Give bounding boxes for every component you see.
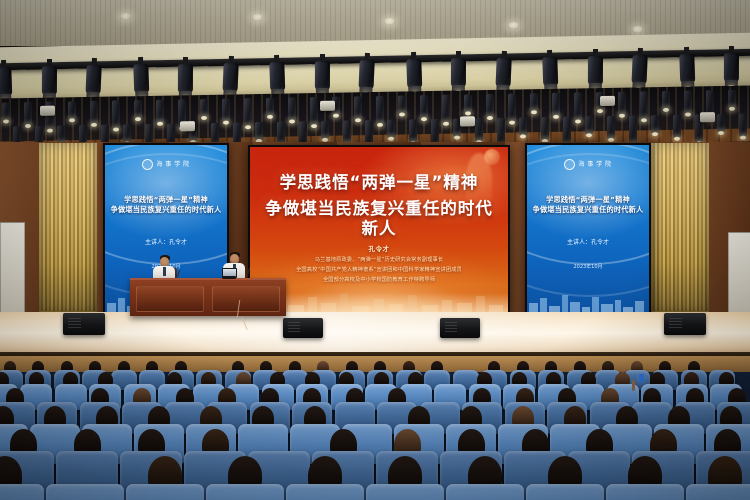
raised-phone-screen	[639, 374, 644, 382]
rig-spotlight	[266, 98, 274, 116]
rig-spotlight	[519, 117, 527, 135]
rig-light-panel	[320, 101, 335, 111]
ceiling-downlight	[508, 22, 519, 29]
rig-spotlight	[244, 98, 252, 126]
rig-spotlight	[541, 117, 549, 140]
rig-spotlight	[57, 125, 65, 143]
speakers-table	[130, 278, 286, 316]
center-credential-1: 马兰基地原政委、“两弹一星”历史研究会常务副理事长	[260, 257, 498, 265]
stage-monitor-speaker	[283, 318, 323, 338]
rig-spotlight	[640, 91, 648, 119]
stage-monitor-speaker	[440, 318, 480, 338]
rig-spotlight	[321, 121, 329, 139]
university-emblem-icon	[564, 159, 575, 170]
stage-curtain-right	[651, 143, 709, 315]
stage-floor	[0, 312, 750, 356]
rig-spotlight	[607, 116, 615, 139]
rig-spotlight	[684, 90, 692, 113]
center-title-line1: 学思践悟“两弹一星”精神	[258, 173, 500, 193]
rig-spotlight	[112, 100, 120, 128]
university-logo-text: 海 事 学 院	[578, 162, 611, 168]
rig-spotlight	[728, 90, 736, 108]
rig-spotlight	[442, 95, 450, 123]
center-credential-2: 全国高校“中国共产党人精神谱系”宣讲团和中国科学家精神宣讲团成员	[260, 267, 498, 275]
rig-light-panel	[180, 121, 195, 131]
podium-front-panel	[212, 286, 280, 312]
raised-arm	[632, 380, 635, 391]
rig-spotlight	[629, 115, 637, 143]
rig-spotlight	[464, 94, 472, 112]
stage-monitor-speaker	[664, 313, 706, 335]
center-title-line2: 争做堪当民族复兴重任的时代新人	[258, 199, 500, 239]
center-led-screen: 学思践悟“两弹一星”精神 争做堪当民族复兴重任的时代新人 孔令才 马兰基地原政委…	[248, 145, 510, 321]
rig-spotlight	[552, 93, 560, 116]
podium-front-panel	[136, 286, 204, 312]
rig-spotlight	[68, 101, 76, 119]
ceiling-downlight	[120, 13, 131, 20]
rig-spotlight	[255, 122, 263, 140]
auditorium-seat	[446, 484, 524, 500]
rig-spotlight	[2, 102, 10, 120]
auditorium-photo: 海 事 学 院 学思践悟“两弹一星”精神 争做堪当民族复兴重任的时代新人 主讲人…	[0, 0, 750, 500]
audience-area	[0, 356, 750, 500]
rig-spotlight	[288, 97, 296, 120]
stage-monitor-speaker	[63, 313, 105, 335]
rig-light-panel	[700, 112, 715, 122]
rig-spotlight	[354, 96, 362, 119]
rig-spotlight	[387, 120, 395, 138]
rig-spotlight	[376, 96, 384, 124]
side-screen-title-line1: 学思践悟“两弹一星”精神	[531, 195, 645, 205]
wall-panel-right-white	[728, 232, 750, 316]
university-logo-text: 海 事 学 院	[156, 162, 189, 168]
auditorium-seat	[686, 484, 750, 500]
rig-spotlight	[420, 95, 428, 118]
rig-spotlight	[409, 119, 417, 142]
rig-spotlight	[662, 91, 670, 109]
auditorium-seat	[526, 484, 604, 500]
rig-spotlight	[222, 99, 230, 122]
university-logo-right: 海 事 学 院	[527, 159, 649, 170]
rig-spotlight	[24, 102, 32, 125]
side-screen-speaker-label: 主讲人：孔令才	[105, 237, 227, 246]
ceiling-downlight	[252, 14, 263, 21]
rig-spotlight	[398, 95, 406, 113]
center-credential-3: 全国部分高校及中小学校国防教育工作特聘导师	[260, 277, 498, 285]
rig-spotlight	[739, 114, 747, 137]
rig-spotlight	[123, 124, 131, 142]
university-logo-left: 海 事 学 院	[105, 159, 227, 170]
rig-light-panel	[40, 106, 55, 116]
university-emblem-icon	[142, 159, 153, 170]
ceiling-downlight	[384, 18, 395, 25]
auditorium-seat	[46, 484, 124, 500]
side-screen-title-line1: 学思践悟“两弹一星”精神	[109, 195, 223, 205]
ceiling-downlight	[632, 26, 643, 33]
auditorium-seat	[206, 484, 284, 500]
rig-spotlight	[200, 99, 208, 117]
rig-spotlight	[343, 120, 351, 143]
rig-spotlight	[475, 118, 483, 141]
rig-spotlight	[530, 93, 538, 111]
side-screen-title-line2: 争做堪当民族复兴重任的时代新人	[531, 205, 645, 215]
auditorium-seat	[606, 484, 684, 500]
rig-spotlight	[651, 115, 659, 133]
rig-spotlight	[90, 101, 98, 124]
rig-spotlight	[574, 92, 582, 120]
rig-spotlight	[618, 92, 626, 115]
side-screen-date: 2023年10月	[527, 263, 649, 270]
rig-spotlight	[486, 94, 494, 117]
auditorium-seat	[0, 484, 44, 500]
decorative-arc	[525, 153, 651, 297]
rig-spotlight	[717, 114, 725, 132]
side-screen-right: 海 事 学 院 学思践悟“两弹一星”精神 争做堪当民族复兴重任的时代新人 主讲人…	[525, 143, 651, 319]
rig-spotlight	[156, 100, 164, 123]
center-speaker-name: 孔令才	[250, 243, 508, 253]
wall-panel-left-white	[0, 222, 25, 316]
necktie	[163, 267, 166, 276]
auditorium-seat	[286, 484, 364, 500]
rig-spotlight	[673, 115, 681, 138]
auditorium-seat	[126, 484, 204, 500]
side-screen-title-line2: 争做堪当民族复兴重任的时代新人	[109, 205, 223, 215]
rig-spotlight	[134, 100, 142, 118]
rig-spotlight	[563, 117, 571, 145]
side-screen-speaker-label: 主讲人：孔令才	[527, 237, 649, 246]
rig-spotlight	[585, 116, 593, 134]
rig-light-panel	[460, 116, 475, 126]
stage-curtain-left	[39, 143, 97, 315]
rig-light-panel	[600, 96, 615, 106]
rig-spotlight	[508, 94, 516, 122]
laptop-base	[222, 276, 236, 279]
auditorium-seat	[366, 484, 444, 500]
rig-spotlight	[310, 97, 318, 125]
